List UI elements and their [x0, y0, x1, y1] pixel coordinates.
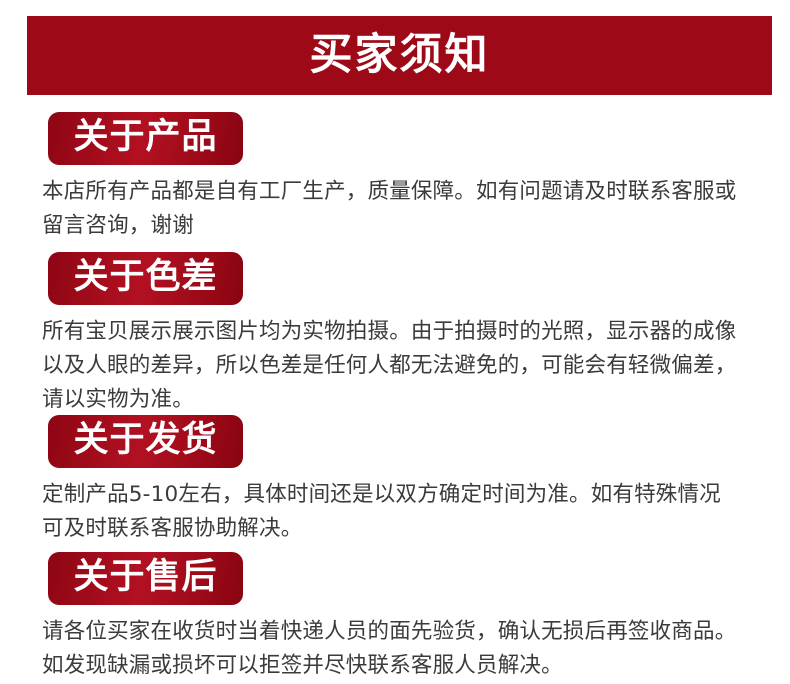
section-paragraph-about-after-sales: 请各位买家在收货时当着快递人员的面先验货，确认无损后再签收商品。如发现缺漏或损坏…	[42, 615, 742, 683]
page-header-banner: 买家须知	[27, 16, 772, 95]
section-paragraph-about-color-difference: 所有宝贝展示展示图片均为实物拍摄。由于拍摄时的光照，显示器的成像以及人眼的差异，…	[42, 315, 742, 417]
section-badge-label: 关于产品	[73, 120, 217, 157]
section-badge-about-product: 关于产品	[48, 112, 243, 165]
section-badge-about-after-sales: 关于售后	[48, 552, 243, 605]
section-badge-label: 关于发货	[73, 423, 217, 460]
section-paragraph-about-shipping: 定制产品5-10左右，具体时间还是以双方确定时间为准。如有特殊情况可及时联系客服…	[42, 478, 742, 546]
section-badge-about-color-difference: 关于色差	[48, 252, 243, 305]
section-badge-label: 关于售后	[73, 560, 217, 597]
section-badge-about-shipping: 关于发货	[48, 415, 243, 468]
page-title: 买家须知	[310, 34, 490, 77]
section-paragraph-about-product: 本店所有产品都是自有工厂生产，质量保障。如有问题请及时联系客服或留言咨询，谢谢	[42, 175, 742, 243]
section-badge-label: 关于色差	[73, 260, 217, 297]
buyer-notice-page: 买家须知 关于产品 本店所有产品都是自有工厂生产，质量保障。如有问题请及时联系客…	[0, 0, 790, 684]
